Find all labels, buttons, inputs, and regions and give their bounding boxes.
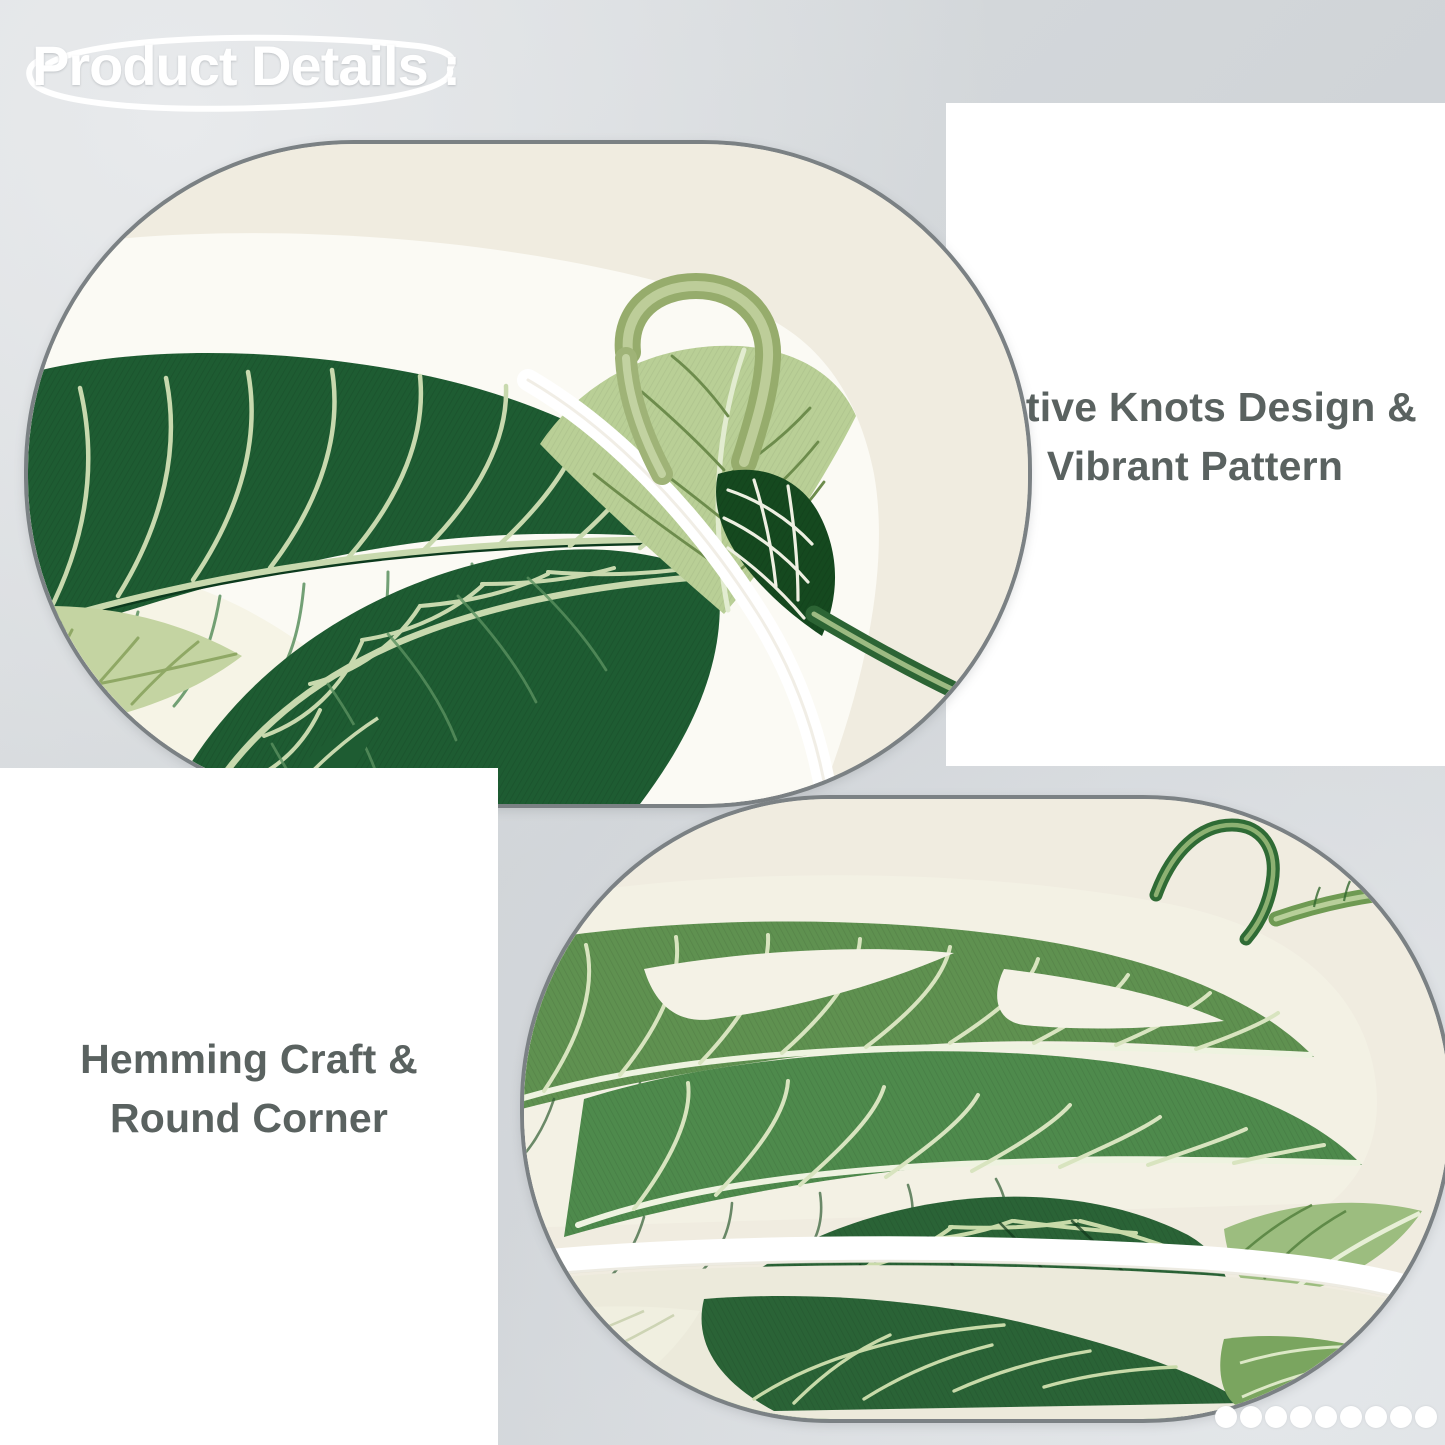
tropical-leaf-hem-corner-illustration — [524, 799, 1445, 1419]
page-title: Product Details : — [32, 38, 460, 94]
carousel-dot[interactable] — [1290, 1406, 1312, 1428]
carousel-dot[interactable] — [1365, 1406, 1387, 1428]
caption-line-1: Active Knots Design & — [960, 378, 1430, 437]
carousel-dot[interactable] — [1340, 1406, 1362, 1428]
carousel-dot[interactable] — [1265, 1406, 1287, 1428]
carousel-dot[interactable] — [1415, 1406, 1437, 1428]
product-photo-hemming-craft — [520, 795, 1445, 1423]
tropical-leaf-knot-illustration — [28, 144, 1028, 804]
product-photo-active-knots — [24, 140, 1032, 808]
feature-caption-hemming-craft: Hemming Craft & Round Corner — [14, 1030, 484, 1149]
carousel-dot[interactable] — [1215, 1406, 1237, 1428]
caption-line-2: Round Corner — [14, 1089, 484, 1148]
carousel-dot[interactable] — [1240, 1406, 1262, 1428]
carousel-dot[interactable] — [1390, 1406, 1412, 1428]
page-title-block: Product Details : — [18, 24, 478, 120]
caption-line-1: Hemming Craft & — [14, 1030, 484, 1089]
product-details-infographic: Product Details : Active Knots Design & … — [0, 0, 1445, 1445]
carousel-dot[interactable] — [1315, 1406, 1337, 1428]
carousel-dots[interactable] — [1215, 1404, 1437, 1430]
